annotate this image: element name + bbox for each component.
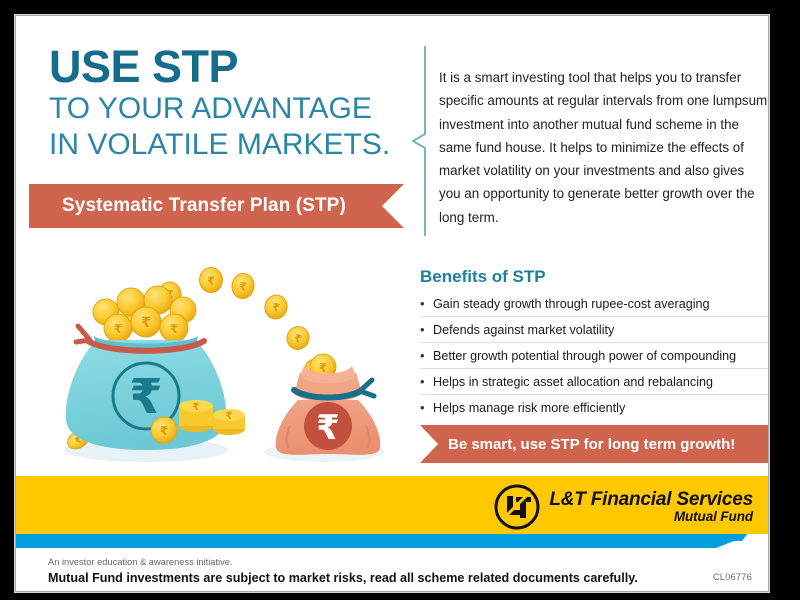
- svg-text:₹: ₹: [114, 322, 122, 336]
- bullet-icon: •: [420, 295, 433, 313]
- svg-text:₹: ₹: [319, 361, 327, 375]
- footer-disclaimer: Mutual Fund investments are subject to m…: [48, 571, 638, 585]
- list-item: • Gain steady growth through rupee-cost …: [420, 291, 769, 317]
- page-title: USE STP TO YOUR ADVANTAGE IN VOLATILE MA…: [49, 43, 409, 163]
- title-line-secondary: TO YOUR ADVANTAGE: [49, 91, 409, 127]
- footer-code: CL06776: [713, 572, 752, 582]
- bullet-icon: •: [420, 399, 433, 417]
- money-bag-transfer-illustration: ₹ ₹ ₹ ₹ ₹ ₹: [36, 244, 416, 474]
- brand-logo-text: L&T Financial Services Mutual Fund: [549, 490, 753, 524]
- list-item: • Helps manage risk more efficiently: [420, 395, 769, 420]
- list-item-label: Defends against market volatility: [433, 321, 614, 339]
- footer: An investor education & awareness initia…: [16, 550, 769, 592]
- benefits-list: • Gain steady growth through rupee-cost …: [420, 291, 769, 420]
- list-item-label: Helps in strategic asset allocation and …: [433, 373, 713, 391]
- svg-text:₹: ₹: [207, 274, 215, 287]
- svg-text:₹: ₹: [193, 402, 200, 413]
- brand-name: L&T Financial Services: [549, 490, 753, 510]
- benefits-heading: Benefits of STP: [420, 267, 546, 287]
- coin-loose: ₹: [151, 417, 177, 443]
- infographic-card: USE STP TO YOUR ADVANTAGE IN VOLATILE MA…: [15, 15, 769, 592]
- svg-text:₹: ₹: [226, 411, 233, 422]
- intro-paragraph: It is a smart investing tool that helps …: [439, 66, 769, 229]
- list-item: • Helps in strategic asset allocation an…: [420, 369, 769, 395]
- svg-text:₹: ₹: [129, 369, 162, 425]
- stp-ribbon-banner: Systematic Transfer Plan (STP): [29, 184, 404, 228]
- target-money-bag: ₹ ₹: [276, 354, 381, 455]
- bullet-icon: •: [420, 347, 433, 365]
- coin-stack-tall: ₹: [179, 400, 213, 432]
- cta-banner: Be smart, use STP for long term growth!: [420, 425, 769, 463]
- brand-subname: Mutual Fund: [549, 510, 753, 524]
- stp-ribbon-label: Systematic Transfer Plan (STP): [29, 195, 346, 217]
- svg-text:₹: ₹: [170, 322, 178, 336]
- title-line-primary: USE STP: [49, 43, 409, 91]
- coin-stack-short: ₹: [213, 409, 245, 435]
- svg-text:₹: ₹: [316, 408, 340, 448]
- title-line-tertiary: IN VOLATILE MARKETS.: [49, 127, 409, 163]
- ribbon-notch-shape: [382, 184, 404, 228]
- svg-text:₹: ₹: [141, 315, 151, 331]
- footer-note: An investor education & awareness initia…: [48, 557, 233, 567]
- lt-logo-icon: [494, 484, 540, 530]
- list-item-label: Better growth potential through power of…: [433, 347, 736, 365]
- svg-text:₹: ₹: [160, 424, 168, 438]
- brand-logo: L&T Financial Services Mutual Fund: [494, 484, 753, 530]
- cyan-accent-band: [16, 534, 769, 548]
- list-item: • Defends against market volatility: [420, 317, 769, 343]
- bullet-icon: •: [420, 373, 433, 391]
- cta-label: Be smart, use STP for long term growth!: [420, 436, 735, 453]
- vertical-divider-with-chevron: [410, 46, 426, 236]
- bullet-icon: •: [420, 321, 433, 339]
- list-item: • Better growth potential through power …: [420, 343, 769, 369]
- list-item-label: Helps manage risk more efficiently: [433, 399, 625, 417]
- list-item-label: Gain steady growth through rupee-cost av…: [433, 295, 710, 313]
